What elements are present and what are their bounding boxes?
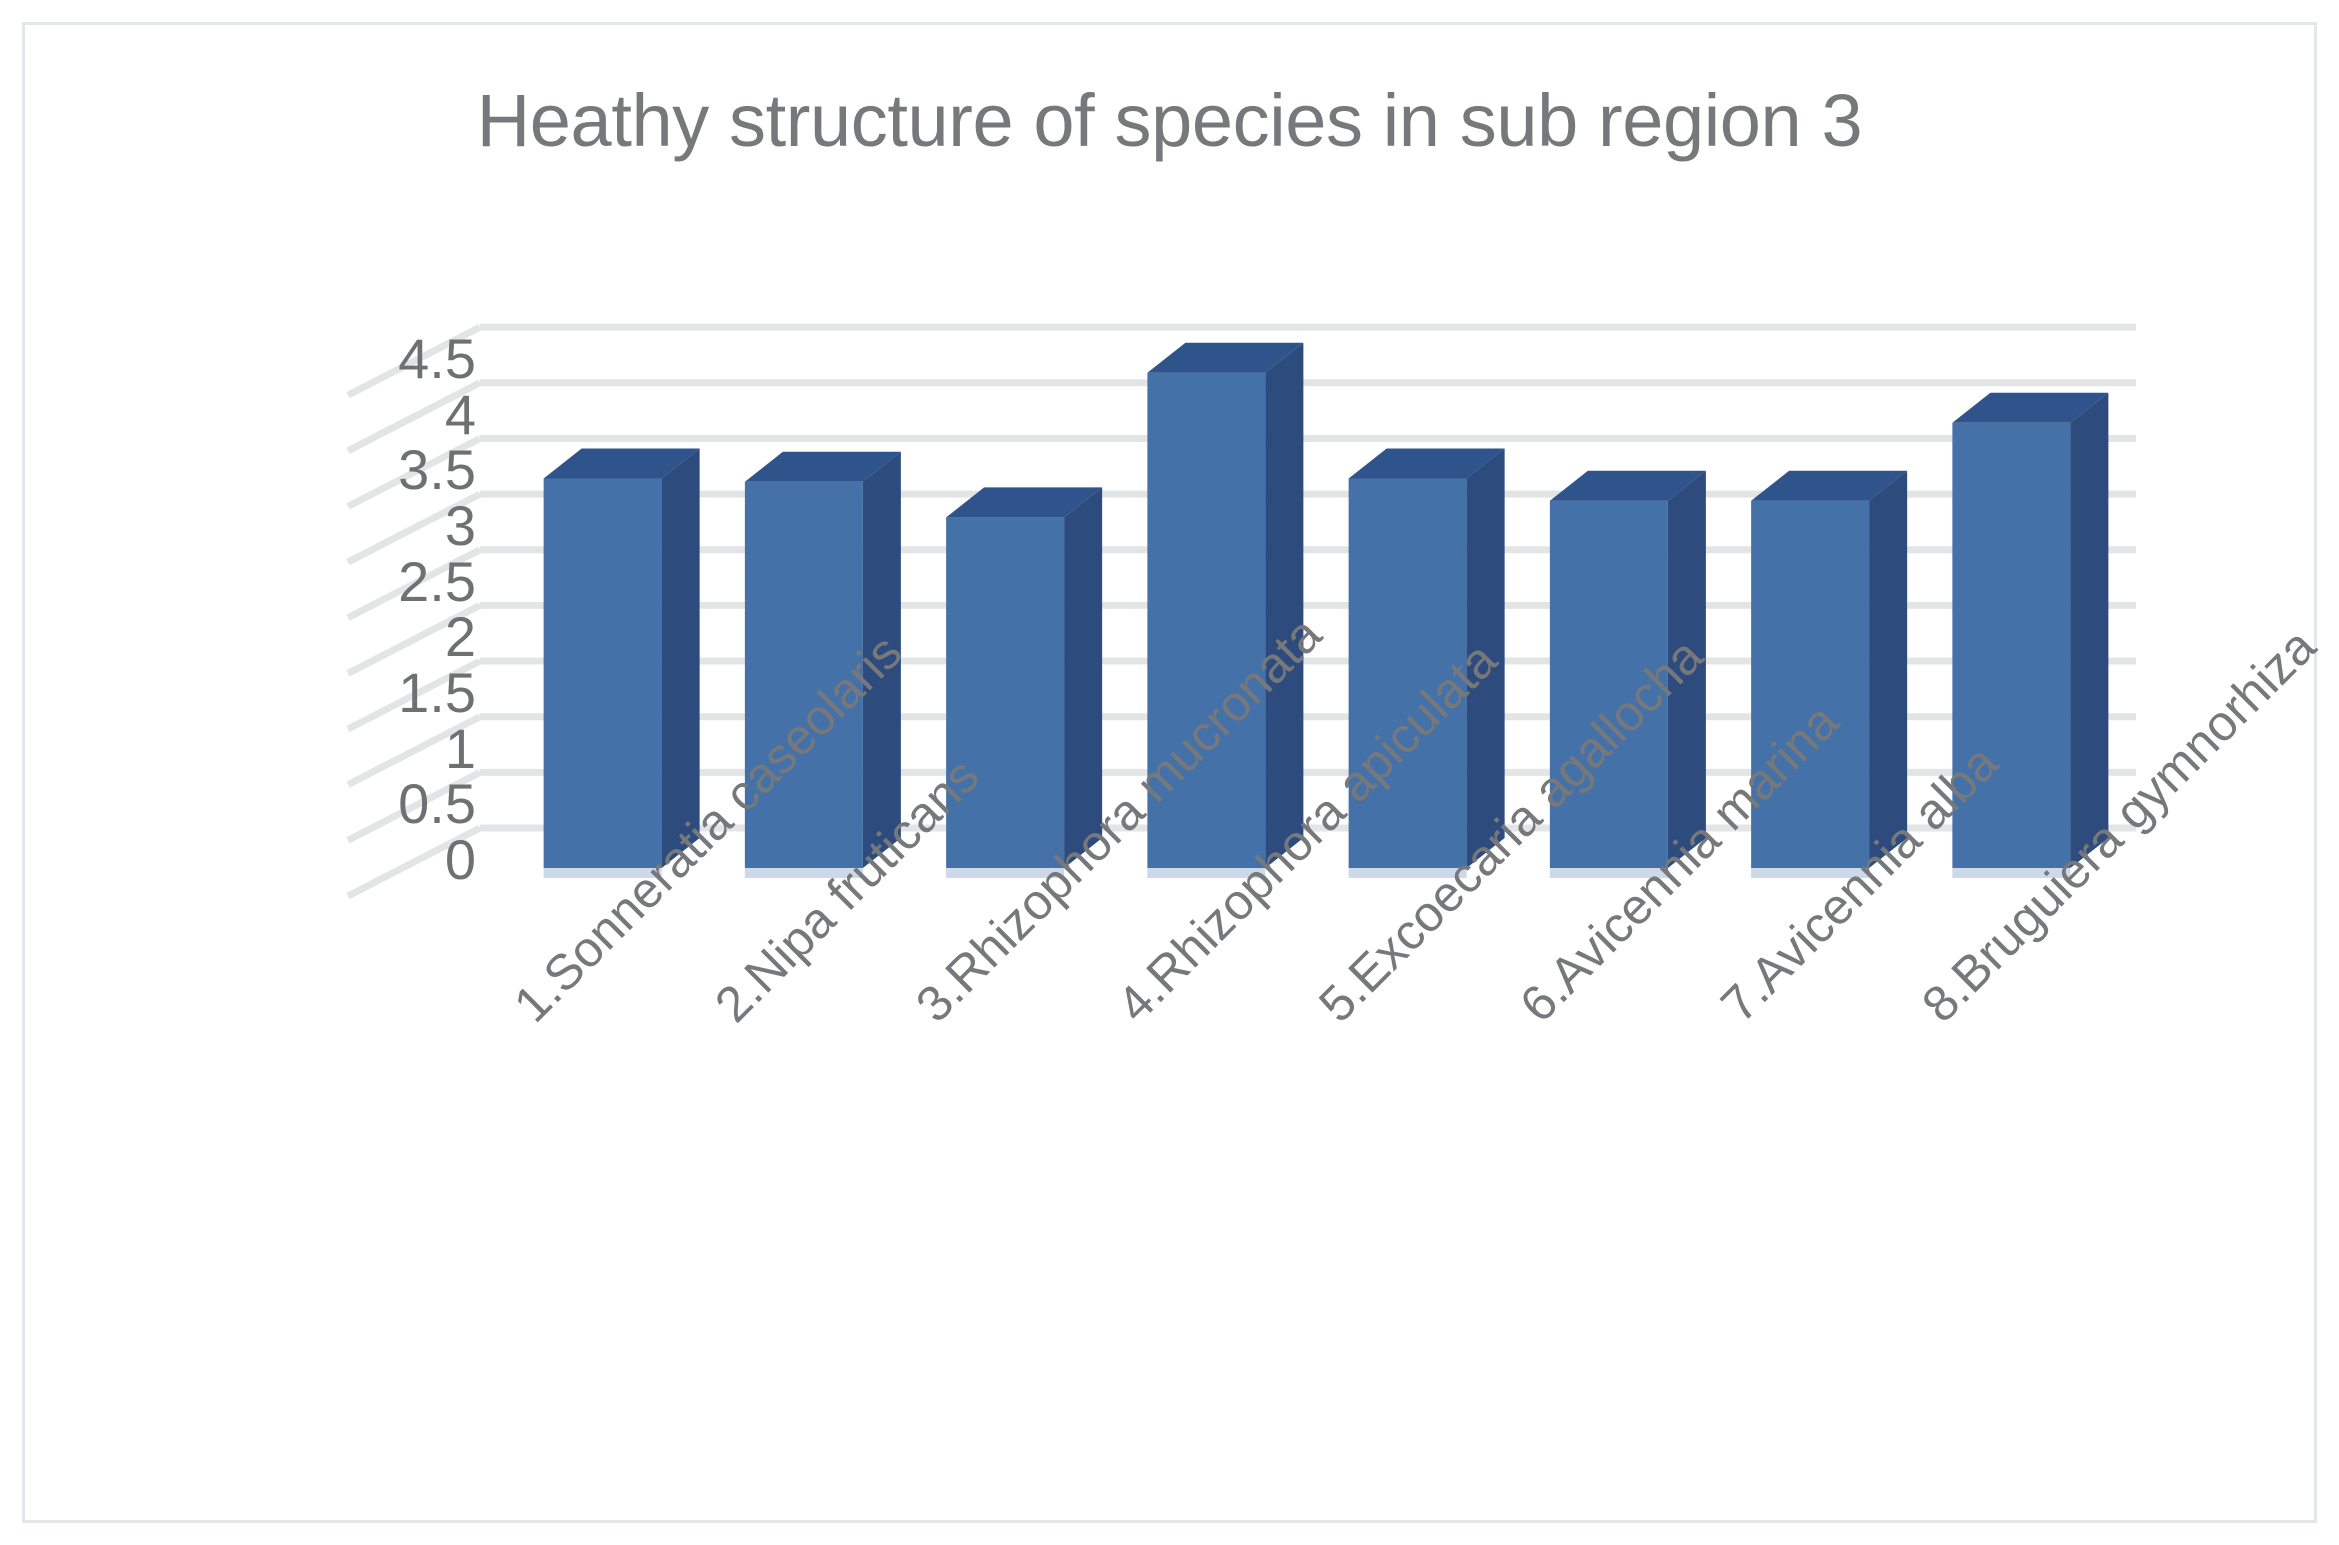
plot-area: 4.543.532.521.510.50 1.Sonneratia caseol… <box>0 0 2339 1545</box>
bar-7 <box>1751 471 1907 878</box>
chart-container: Heathy structure of species in sub regio… <box>0 0 2339 1545</box>
y-axis-tick-label: 0 <box>300 832 476 888</box>
y-axis-tick-label: 4.5 <box>300 331 476 387</box>
bar-side-face <box>1265 343 1303 868</box>
y-axis-tick-label: 0.5 <box>300 776 476 832</box>
bar-front-face <box>946 517 1064 868</box>
bar-side-face <box>2070 393 2108 868</box>
y-axis-tick-labels: 4.543.532.521.510.50 <box>300 0 476 1545</box>
y-axis-tick-label: 2 <box>300 609 476 665</box>
bar-1 <box>544 448 700 878</box>
y-axis-tick-label: 2.5 <box>300 554 476 610</box>
y-axis-tick-label: 3 <box>300 498 476 554</box>
y-axis-tick-label: 3.5 <box>300 442 476 498</box>
y-axis-tick-label: 4 <box>300 387 476 443</box>
y-axis-tick-label: 1 <box>300 721 476 777</box>
bar-front-face <box>1751 501 1869 868</box>
bar-front-face <box>544 478 662 868</box>
y-axis-tick-label: 1.5 <box>300 665 476 721</box>
